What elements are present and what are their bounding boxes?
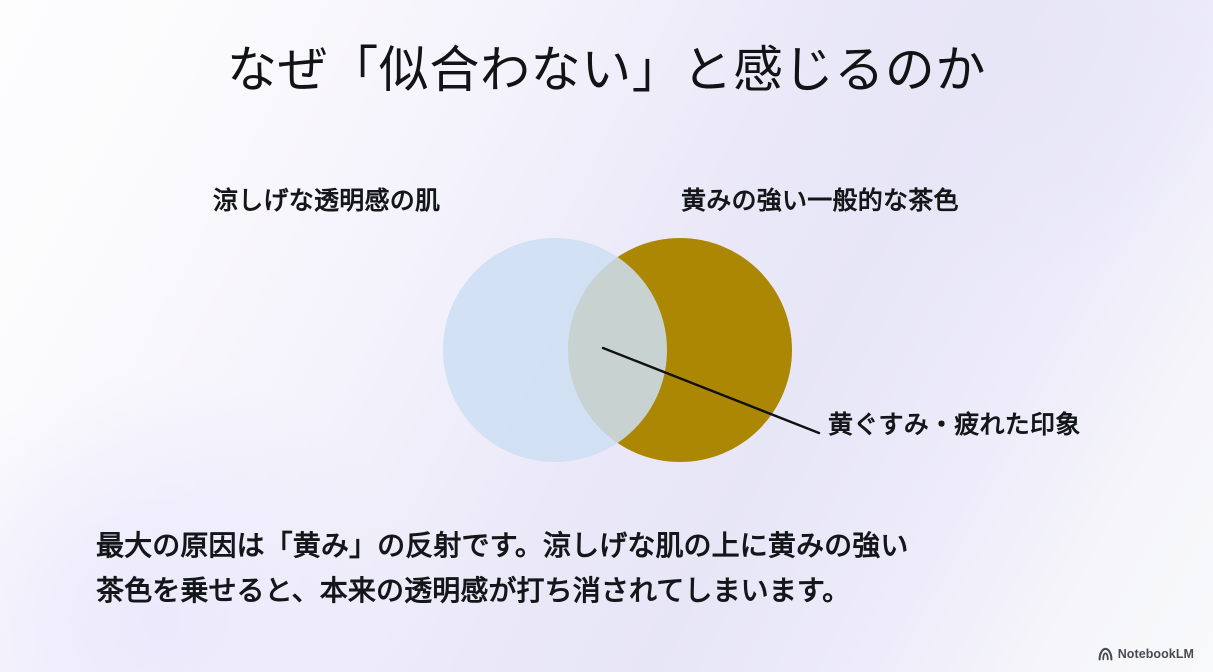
venn-intersection-label: 黄ぐすみ・疲れた印象 xyxy=(828,410,1081,440)
venn-right-circle-label: 黄みの強い一般的な茶色 xyxy=(681,186,959,216)
page-title: なぜ「似合わない」と感じるのか xyxy=(0,42,1213,98)
venn-left-circle-label: 涼しげな透明感の肌 xyxy=(213,186,440,216)
slide-canvas: なぜ「似合わない」と感じるのか 涼しげな透明感の肌 黄みの強い一般的な茶色 黄ぐ… xyxy=(0,0,1213,672)
watermark: NotebookLM xyxy=(1098,647,1194,661)
body-paragraph-line-1: 最大の原因は「黄み」の反射です。涼しげな肌の上に黄みの強い xyxy=(96,523,1136,568)
body-paragraph-line-2: 茶色を乗せると、本来の透明感が打ち消されてしまいます。 xyxy=(96,568,1136,613)
venn-diagram xyxy=(443,238,792,462)
notebooklm-logo-icon xyxy=(1098,647,1113,661)
venn-circle-left xyxy=(443,238,667,462)
watermark-label: NotebookLM xyxy=(1118,647,1194,661)
body-paragraph: 最大の原因は「黄み」の反射です。涼しげな肌の上に黄みの強い 茶色を乗せると、本来… xyxy=(96,523,1136,614)
